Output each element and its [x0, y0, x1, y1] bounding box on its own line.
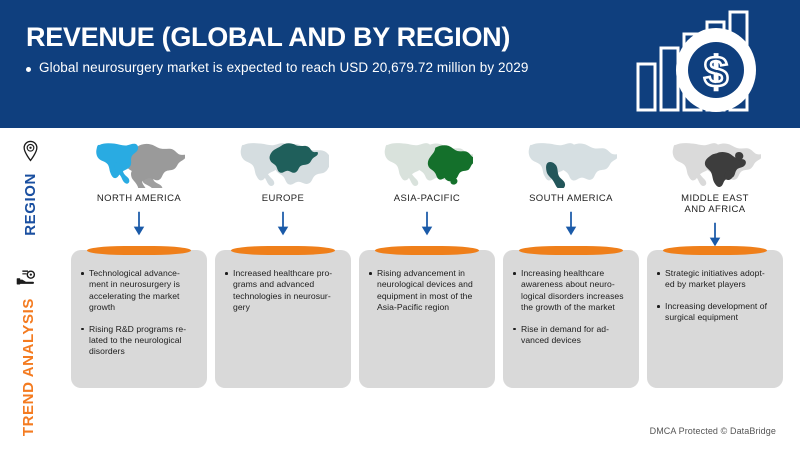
region-column-asia-pacific: ASIA-PACIFIC	[366, 136, 488, 239]
trend-card-asia-pacific: Rising advancement in neurological devic…	[359, 250, 495, 388]
svg-text:$: $	[704, 48, 728, 97]
world-map-north-america-icon	[93, 136, 185, 188]
region-strip: NORTH AMERICA EUROPE	[0, 128, 800, 238]
card-tab-1	[231, 246, 335, 255]
connector-arrow-1	[276, 211, 290, 239]
card-bullet: Rising R&D programs re- lated to the neu…	[89, 324, 197, 358]
card-bullet: Increasing development of surgical equip…	[665, 301, 773, 324]
card-bullet-list-3: Increasing healthcare awareness about ne…	[503, 250, 639, 346]
world-map-middle-east-africa-icon	[669, 136, 761, 188]
region-label-north-america: NORTH AMERICA	[97, 193, 181, 204]
region-label-europe: EUROPE	[262, 193, 305, 204]
trend-card-south-america: Increasing healthcare awareness about ne…	[503, 250, 639, 388]
card-bullet: Strategic initiatives adopt- ed by marke…	[665, 268, 773, 291]
card-tab-4	[663, 246, 767, 255]
trend-card-north-america: Technological advance- ment in neurosurg…	[71, 250, 207, 388]
footer-copyright: DMCA Protected © DataBridge	[650, 426, 776, 436]
trend-card-europe: Increased healthcare pro- grams and adva…	[215, 250, 351, 388]
card-tab-3	[519, 246, 623, 255]
region-column-middle-east-africa: MIDDLE EAST AND AFRICA	[654, 136, 776, 250]
connector-arrow-0	[132, 211, 146, 239]
header-subtitle: Global neurosurgery market is expected t…	[39, 60, 528, 75]
trend-analysis-cards: Technological advance- ment in neurosurg…	[0, 240, 800, 390]
world-map-asia-pacific-icon	[381, 136, 473, 188]
card-bullet: Rising advancement in neurological devic…	[377, 268, 485, 314]
card-tab-0	[87, 246, 191, 255]
card-bullet: Increased healthcare pro- grams and adva…	[233, 268, 341, 314]
region-label-middle-east-africa: MIDDLE EAST AND AFRICA	[681, 193, 749, 215]
header-banner: REVENUE (GLOBAL AND BY REGION) Global ne…	[0, 0, 800, 128]
card-bullet: Technological advance- ment in neurosurg…	[89, 268, 197, 314]
region-column-europe: EUROPE	[222, 136, 344, 239]
card-bullet-list-2: Rising advancement in neurological devic…	[359, 250, 495, 314]
bullet-dot-icon	[26, 67, 31, 72]
card-bullet: Increasing healthcare awareness about ne…	[521, 268, 629, 314]
card-bullet: Rise in demand for ad- vanced devices	[521, 324, 629, 347]
connector-arrow-3	[564, 211, 578, 239]
card-bullet-list-0: Technological advance- ment in neurosurg…	[71, 250, 207, 358]
connector-arrow-2	[420, 211, 434, 239]
world-map-europe-icon	[237, 136, 329, 188]
card-tab-2	[375, 246, 479, 255]
region-label-asia-pacific: ASIA-PACIFIC	[394, 193, 460, 204]
trend-card-middle-east-africa: Strategic initiatives adopt- ed by marke…	[647, 250, 783, 388]
region-column-south-america: SOUTH AMERICA	[510, 136, 632, 239]
world-map-south-america-icon	[525, 136, 617, 188]
header-subtitle-row: Global neurosurgery market is expected t…	[26, 60, 528, 75]
region-label-south-america: SOUTH AMERICA	[529, 193, 613, 204]
card-bullet-list-1: Increased healthcare pro- grams and adva…	[215, 250, 351, 314]
card-bullet-list-4: Strategic initiatives adopt- ed by marke…	[647, 250, 783, 324]
dollar-bar-chart-icon: $	[634, 8, 774, 116]
region-column-north-america: NORTH AMERICA	[78, 136, 200, 239]
page-title: REVENUE (GLOBAL AND BY REGION)	[26, 22, 510, 53]
